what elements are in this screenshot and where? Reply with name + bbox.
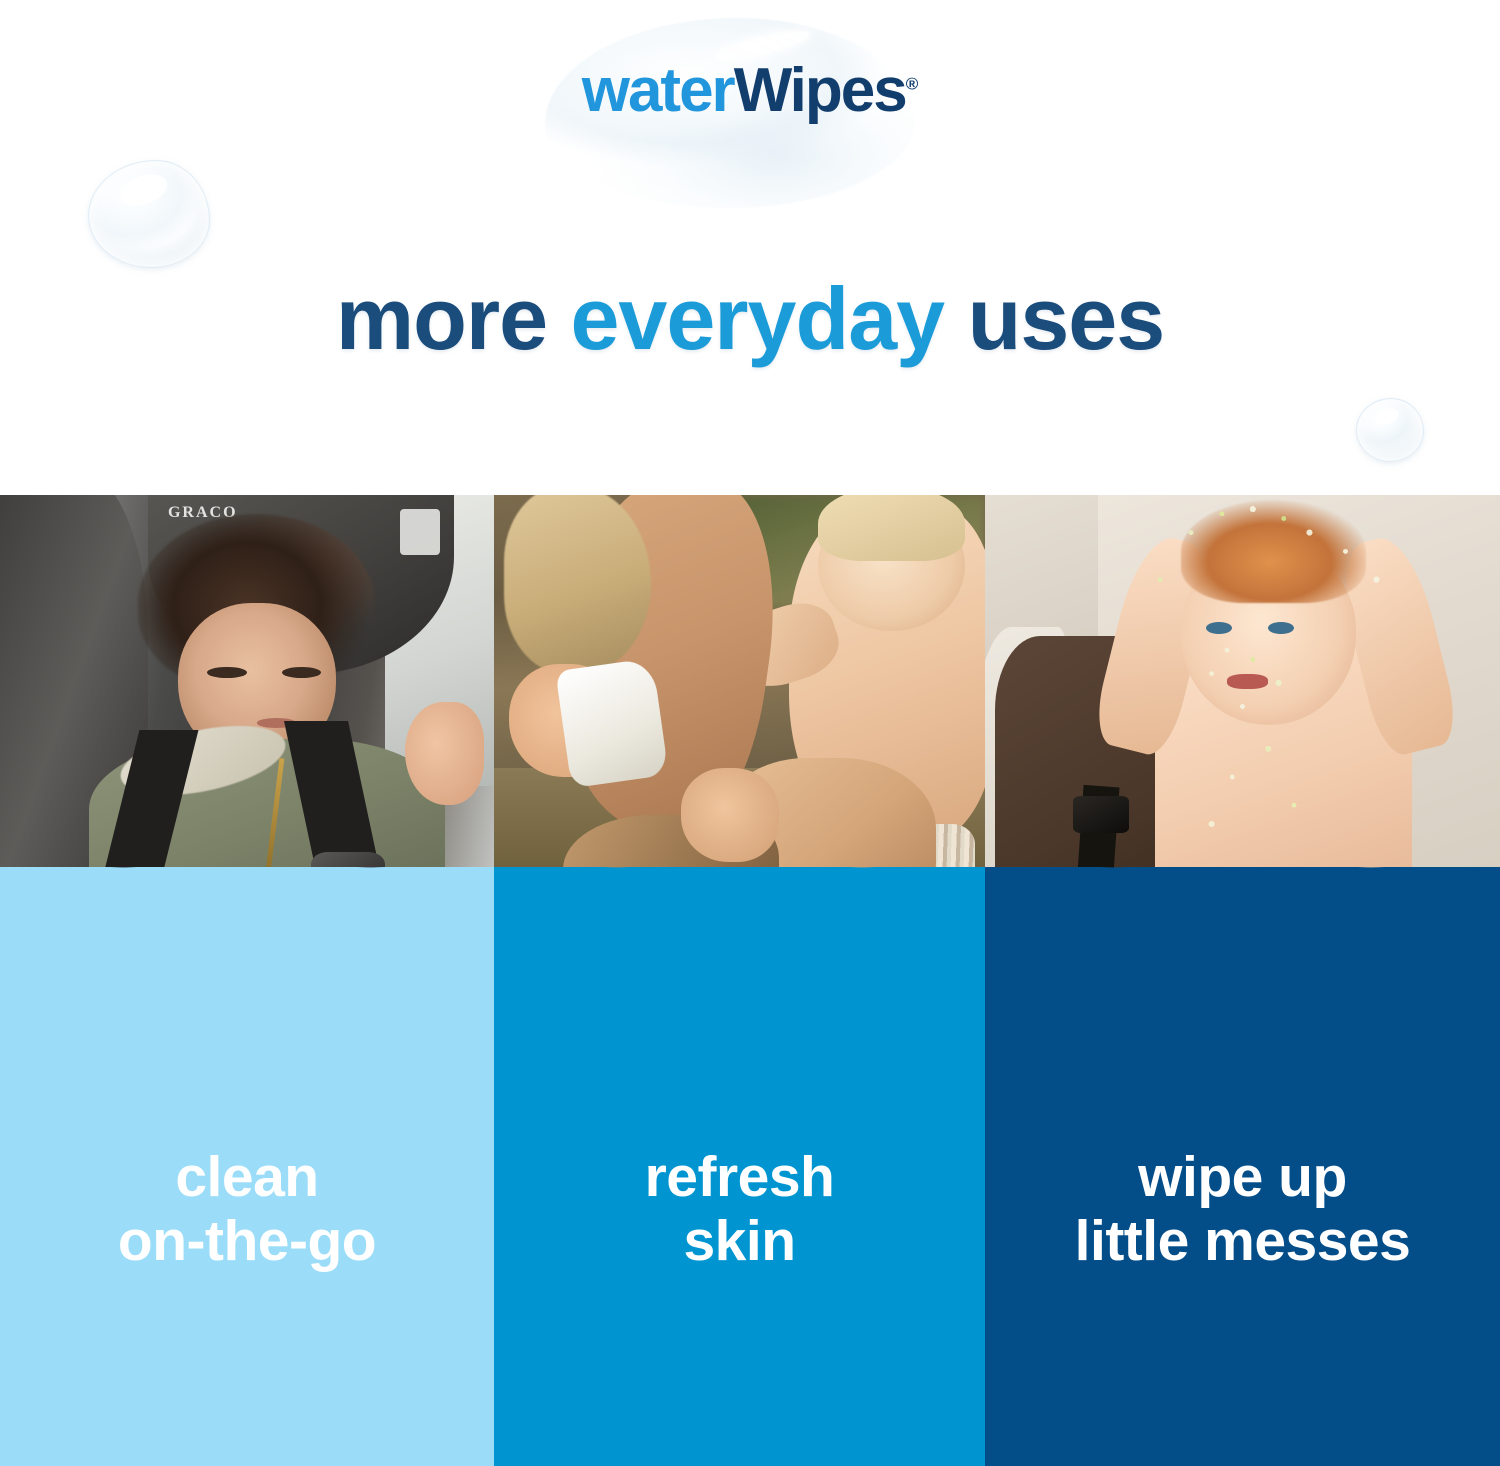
- panel-wipe-up-little-messes: wipe up little messes: [985, 495, 1500, 1466]
- panel-clean-on-the-go: GRACO clean on-the-go: [0, 495, 494, 1466]
- water-droplet-large-icon: [88, 160, 210, 268]
- photo-messy-highchair-baby: [985, 495, 1500, 965]
- photo-beach-sandy-feet: [494, 495, 985, 965]
- logo-wordmark: waterWipes®: [0, 60, 1500, 122]
- page-title: more everyday uses: [0, 275, 1500, 363]
- panel-caption-refresh-skin: refresh skin: [494, 1145, 985, 1274]
- panel-caption-wipe-up-little-messes: wipe up little messes: [985, 1145, 1500, 1274]
- logo-text-wipes: Wipes: [734, 56, 906, 125]
- headline-word-uses: uses: [944, 269, 1164, 368]
- registered-trademark-icon: ®: [906, 74, 919, 93]
- headline-word-everyday: everyday: [570, 269, 944, 368]
- water-droplet-small-icon: [1356, 398, 1424, 462]
- header-section: waterWipes® more everyday uses: [0, 0, 1500, 495]
- use-case-panels: GRACO clean on-the-go: [0, 495, 1500, 1466]
- panel-refresh-skin: refresh skin: [494, 495, 985, 1466]
- headline-word-more: more: [336, 269, 571, 368]
- panel-caption-clean-on-the-go: clean on-the-go: [0, 1145, 494, 1274]
- brand-logo: waterWipes®: [0, 0, 1500, 215]
- logo-text-water: water: [582, 56, 734, 125]
- photo-car-seat-toddler: GRACO: [0, 495, 494, 965]
